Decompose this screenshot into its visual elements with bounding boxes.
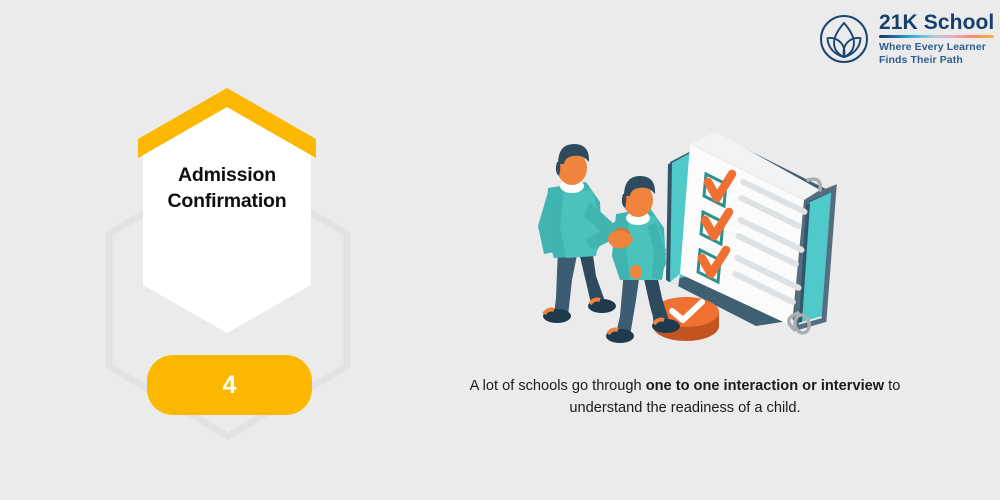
caption-highlight: one to one interaction or interview	[646, 378, 884, 394]
brand-gradient-rule	[879, 35, 994, 38]
brand-tagline-line1: Where Every Learner	[879, 41, 986, 53]
step-badge: Admission Confirmation 4	[95, 72, 385, 442]
step-number: 4	[223, 371, 237, 400]
person-right	[586, 176, 680, 343]
infographic-canvas: 21K School Where Every Learner Finds The…	[0, 0, 1000, 500]
step-description: A lot of schools go through one to one i…	[455, 376, 915, 420]
caption-lead: A lot of schools go through	[470, 378, 646, 394]
brand-text-group: 21K School Where Every Learner Finds The…	[879, 12, 994, 67]
hexagon-top-chevron-icon	[136, 86, 318, 158]
lotus-circle-icon	[818, 13, 870, 65]
brand-logo: 21K School Where Every Learner Finds The…	[818, 12, 994, 67]
brand-tagline-line2: Finds Their Path	[879, 54, 963, 66]
handshake-checklist-illustration	[520, 130, 850, 360]
brand-name: 21K School	[879, 12, 994, 33]
step-number-pill: 4	[147, 355, 312, 415]
brand-tagline: Where Every Learner Finds Their Path	[879, 41, 994, 67]
